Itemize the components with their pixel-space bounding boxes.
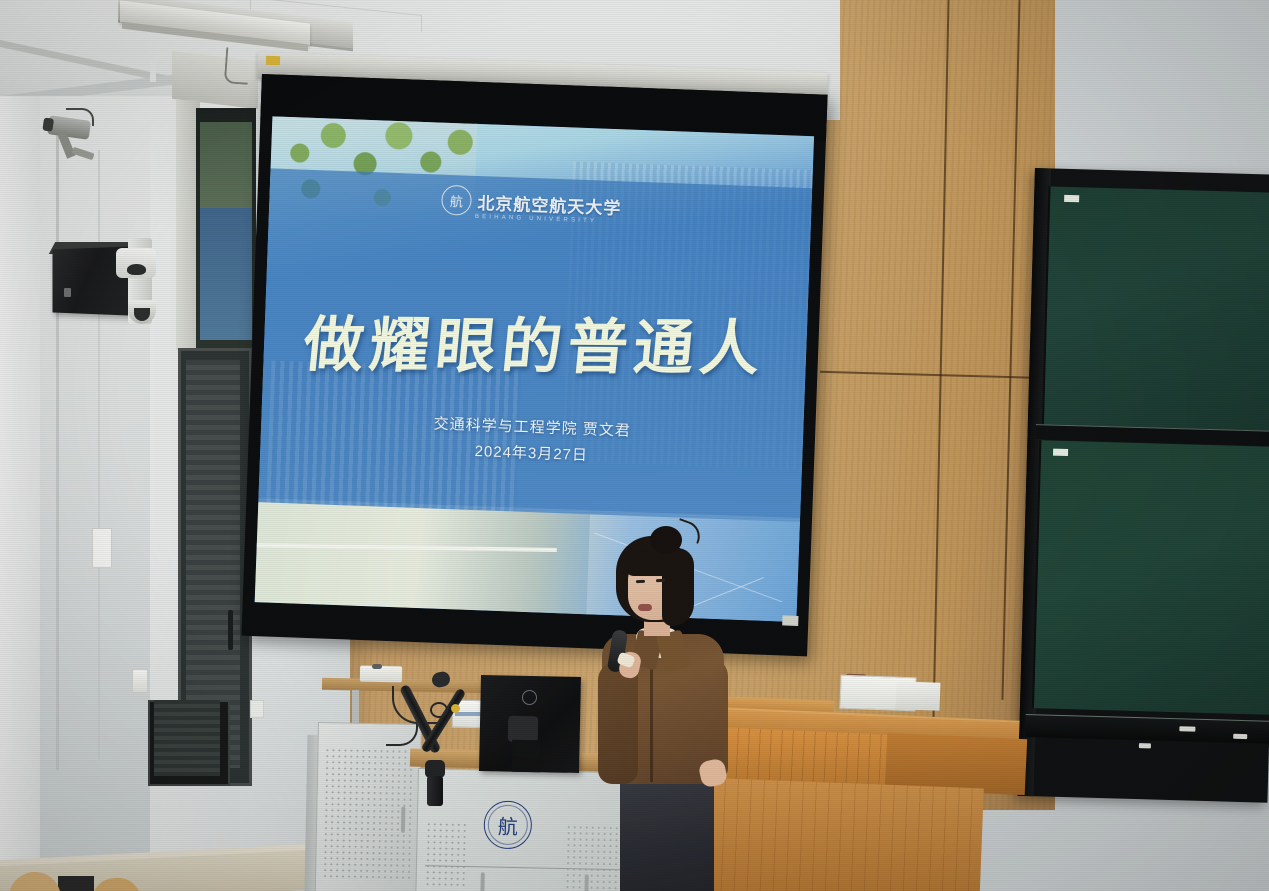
screen-housing-label xyxy=(266,56,280,65)
presenter-hair-side xyxy=(662,548,694,626)
presenter xyxy=(592,512,752,891)
chalk-piece[interactable] xyxy=(1233,734,1247,739)
podium-drawer-handle[interactable] xyxy=(584,875,588,891)
presenter-mouth xyxy=(638,604,652,611)
wall-cable-1 xyxy=(56,130,59,770)
wheelchair-accessible-sign xyxy=(92,528,112,568)
window-sky-view xyxy=(200,208,252,340)
speaker-badge xyxy=(64,288,71,297)
ptz-camera-lens xyxy=(127,264,146,275)
podium-vent-left xyxy=(425,821,466,888)
av-cabinet-vent xyxy=(322,747,412,879)
presenter-eye-right xyxy=(656,579,665,582)
desk-shadow-gap xyxy=(58,876,94,891)
door-handle[interactable] xyxy=(228,610,233,650)
mic-cable-coil xyxy=(430,702,448,718)
shelf-cable-coil xyxy=(372,664,382,669)
mic-desk-clamp xyxy=(427,776,443,806)
wall-light-switch[interactable] xyxy=(132,669,148,693)
slide-title: 做耀眼的普通人 xyxy=(260,296,810,388)
chalk-piece[interactable] xyxy=(1139,743,1151,748)
screen-hanging-hook xyxy=(224,47,250,85)
screen-corner-label xyxy=(782,615,798,626)
wall-vent-louvers xyxy=(154,700,220,776)
monitor-mount-hub xyxy=(508,716,538,743)
av-cabinet-handle[interactable] xyxy=(401,807,405,833)
mic-arm-knob[interactable] xyxy=(451,704,460,713)
podium-drawer-handle[interactable] xyxy=(480,872,484,891)
chalkboard-panel-lower xyxy=(1032,440,1269,715)
presenter-trousers xyxy=(620,768,714,891)
chalkboard xyxy=(1017,168,1269,803)
presenter-left-arm xyxy=(598,662,638,784)
podium-shelf-leg xyxy=(352,690,359,724)
university-seal-icon: 航 xyxy=(441,185,472,216)
chalkboard-panel-upper xyxy=(1042,186,1269,433)
presenter-eye-left xyxy=(636,580,645,583)
presenter-jacket-placket xyxy=(650,662,653,782)
lectern-white-box-secondary xyxy=(896,681,941,711)
chalk-piece[interactable] xyxy=(1179,726,1195,731)
monitor-stand xyxy=(512,740,541,772)
av-cabinet[interactable] xyxy=(315,722,422,891)
wall-corner xyxy=(0,96,40,891)
lecture-hall-photo: 航 北京航空航天大学 BEIHANG UNIVERSITY 做耀眼的普通人 交通… xyxy=(0,0,1269,891)
chalkboard-label-upper xyxy=(1064,195,1079,202)
chalkboard-label-lower xyxy=(1053,449,1068,456)
chalk-ledge xyxy=(1025,714,1269,744)
wall-outlet-plate xyxy=(250,700,264,718)
window-foliage-view xyxy=(200,122,252,208)
